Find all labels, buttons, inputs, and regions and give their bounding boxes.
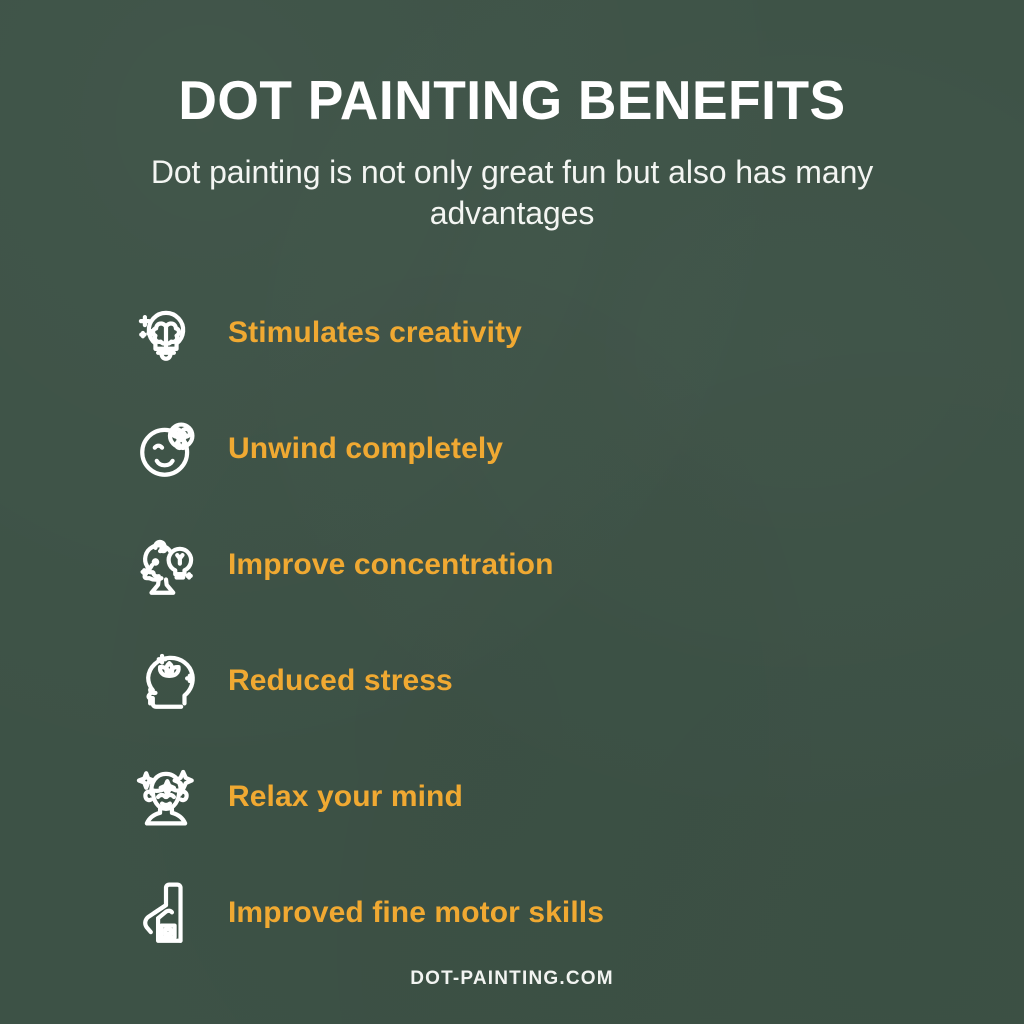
list-item: Stimulates creativity <box>0 275 1024 391</box>
page-title: DOT PAINTING BENEFITS <box>76 72 949 130</box>
poster-canvas: DOT PAINTING BENEFITS Dot painting is no… <box>0 0 1024 1024</box>
benefits-list: Stimulates creativity Unwind completely <box>0 275 1024 971</box>
list-item: Improved fine motor skills <box>0 855 1024 971</box>
head-lotus-icon <box>130 645 202 717</box>
list-item-label: Improved fine motor skills <box>228 896 604 930</box>
brain-lightbulb-icon <box>130 297 202 369</box>
list-item-label: Relax your mind <box>228 780 463 814</box>
list-item: Relax your mind <box>0 739 1024 855</box>
list-item: Improve concentration <box>0 507 1024 623</box>
list-item-label: Unwind completely <box>228 432 503 466</box>
winking-face-flower-icon <box>130 413 202 485</box>
page-subtitle: Dot painting is not only great fun but a… <box>132 152 892 235</box>
list-item-label: Stimulates creativity <box>228 316 522 350</box>
list-item-label: Reduced stress <box>228 664 453 698</box>
footer-website: DOT-PAINTING.COM <box>0 968 1024 990</box>
list-item-label: Improve concentration <box>228 548 554 582</box>
list-item: Unwind completely <box>0 391 1024 507</box>
head-profile-lightbulb-icon <box>130 529 202 601</box>
hand-holding-tool-icon <box>130 877 202 949</box>
relaxed-woman-sparkles-icon <box>130 761 202 833</box>
list-item: Reduced stress <box>0 623 1024 739</box>
